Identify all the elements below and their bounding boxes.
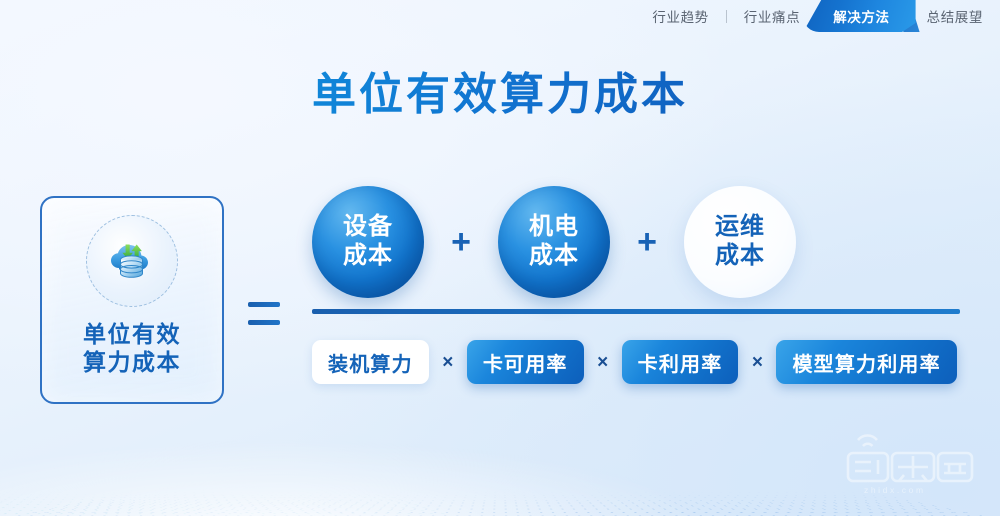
cost-bubble-line2: 成本	[715, 242, 765, 271]
equals-bar-top	[248, 302, 280, 307]
result-card-label-line1: 单位有效	[83, 320, 181, 348]
factor-pill-installed-compute[interactable]: 装机算力	[312, 340, 429, 384]
watermark-domain: zhidx.com	[864, 485, 926, 495]
cost-bubble-line1: 机电	[529, 213, 579, 242]
cost-bubble-line2: 成本	[343, 242, 393, 271]
slide-canvas: 行业趋势 行业痛点 解决方法 总结展望 单位有效算力成本	[0, 0, 1000, 516]
zhidongxi-watermark-icon: zhidx.com	[836, 426, 982, 498]
times-icon-3: ×	[738, 353, 776, 372]
nav-item-industry-trend[interactable]: 行业趋势	[635, 0, 725, 32]
cost-bubble-line2: 成本	[529, 242, 579, 271]
fraction-bar	[312, 309, 960, 314]
watermark-logo: zhidx.com	[836, 426, 982, 498]
factor-pill-card-utilization[interactable]: 卡利用率	[622, 340, 739, 384]
result-card-label-line2: 算力成本	[83, 348, 181, 376]
cost-bubble-operations[interactable]: 运维 成本	[684, 186, 796, 298]
formula-fraction: 设备 成本 + 机电 成本 + 运维 成本 装机算力 ×	[312, 178, 960, 406]
cloud-database-transfer-icon	[105, 234, 159, 288]
cost-bubble-line1: 设备	[343, 213, 393, 242]
formula-denominator: 装机算力 × 卡可用率 × 卡利用率 × 模型算力利用率	[312, 340, 960, 384]
equals-bar-bottom	[248, 320, 280, 325]
equals-sign	[248, 302, 280, 325]
nav-item-label: 解决方法	[833, 6, 889, 26]
plus-icon-1: +	[424, 225, 498, 259]
background-dot-grid	[0, 492, 1000, 516]
section-nav: 行业趋势 行业痛点 解决方法 总结展望	[635, 0, 1000, 32]
nav-item-label: 行业痛点	[744, 6, 800, 26]
nav-item-pain-points[interactable]: 行业痛点	[727, 0, 817, 32]
icon-disc	[86, 215, 178, 307]
cost-bubble-line1: 运维	[715, 213, 765, 242]
result-card-label: 单位有效 算力成本	[83, 320, 181, 376]
nav-item-summary[interactable]: 总结展望	[910, 0, 1000, 32]
factor-pill-model-compute-utilization[interactable]: 模型算力利用率	[776, 340, 956, 384]
background-dot-grid-cyan	[0, 492, 580, 516]
nav-item-label: 行业趋势	[652, 6, 708, 26]
times-icon-1: ×	[429, 353, 467, 372]
nav-item-solution[interactable]: 解决方法	[817, 0, 909, 32]
times-icon-2: ×	[584, 353, 622, 372]
factor-pill-card-availability[interactable]: 卡可用率	[467, 340, 584, 384]
nav-item-label: 总结展望	[927, 6, 983, 26]
plus-icon-2: +	[610, 225, 684, 259]
cost-bubble-electromechanical[interactable]: 机电 成本	[498, 186, 610, 298]
result-card: 单位有效 算力成本	[40, 196, 224, 404]
formula-numerator: 设备 成本 + 机电 成本 + 运维 成本	[312, 178, 960, 306]
page-title: 单位有效算力成本	[0, 58, 1000, 122]
cost-bubble-equipment[interactable]: 设备 成本	[312, 186, 424, 298]
